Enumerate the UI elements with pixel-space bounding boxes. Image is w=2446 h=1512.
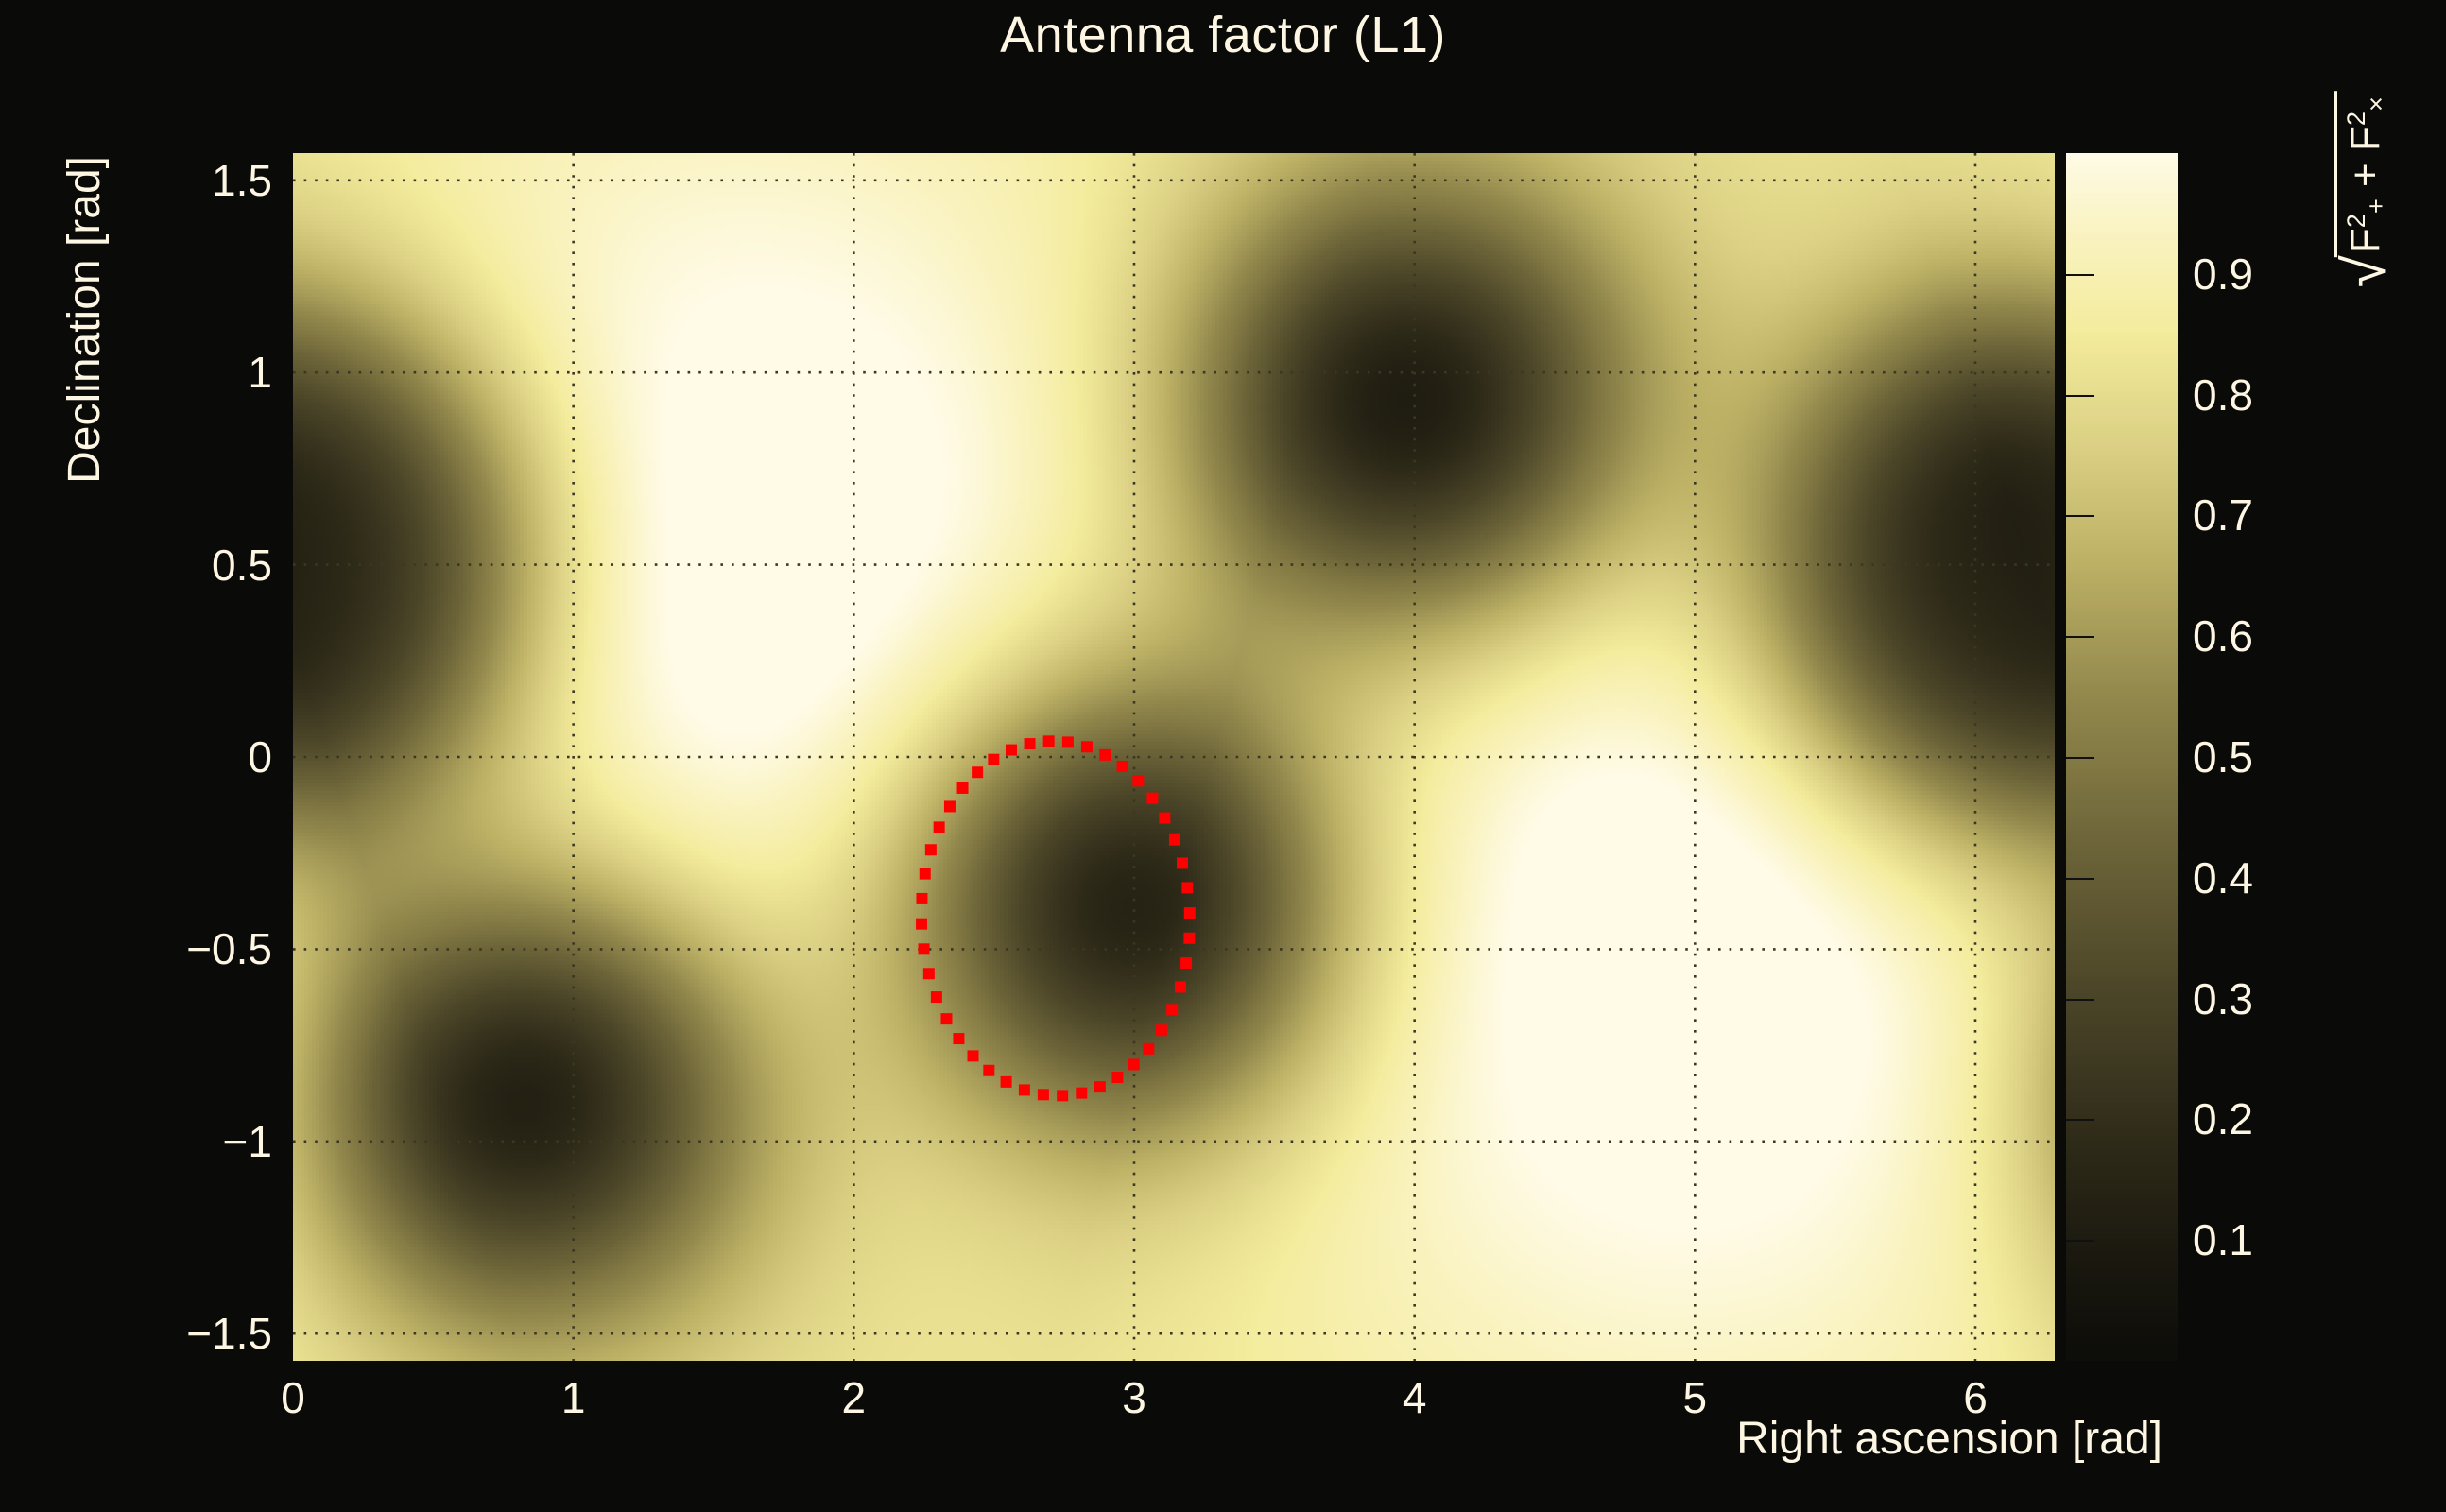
x-tick-label: 6 [1963, 1372, 1988, 1423]
y-tick-label: 0 [248, 731, 272, 782]
x-tick-label: 5 [1683, 1372, 1708, 1423]
colorbar-tick-label: 0.7 [2193, 490, 2253, 541]
y-tick-label: −0.5 [186, 923, 272, 974]
y-tick-label: 0.5 [212, 540, 272, 591]
x-tick-label: 2 [842, 1372, 867, 1423]
y-tick-label: −1 [223, 1116, 272, 1167]
colorbar-tick-label: 0.3 [2193, 973, 2253, 1024]
x-tick-label: 3 [1122, 1372, 1146, 1423]
colorbar-tick-mark [2066, 878, 2094, 880]
colorbar-tick-mark [2066, 1119, 2094, 1121]
antenna-factor-plot: Antenna factor (L1) Right ascension [rad… [0, 0, 2446, 1512]
colorbar-tick-mark [2066, 1240, 2094, 1242]
colorbar-tick-mark [2066, 515, 2094, 517]
y-axis-title: Declination [rad] [59, 156, 111, 484]
colorbar-tick-mark [2066, 395, 2094, 397]
colorbar-tick-label: 0.5 [2193, 731, 2253, 782]
page-title: Antenna factor (L1) [0, 6, 2446, 64]
x-tick-label: 4 [1403, 1372, 1427, 1423]
colorbar-tick-mark [2066, 636, 2094, 638]
y-tick-label: 1.5 [212, 155, 272, 206]
colorbar-tick-label: 0.2 [2193, 1093, 2253, 1144]
colorbar-tick-label: 0.4 [2193, 852, 2253, 903]
colorbar-tick-label: 0.9 [2193, 249, 2253, 300]
colorbar-tick-mark [2066, 999, 2094, 1001]
x-tick-label: 0 [281, 1372, 305, 1423]
f-cross-symbol: F2× [2342, 96, 2388, 151]
plus-operator: + [2342, 163, 2388, 187]
colorbar-tick-label: 0.1 [2193, 1214, 2253, 1265]
x-tick-label: 1 [561, 1372, 586, 1423]
plot-area[interactable] [293, 153, 2055, 1361]
colorbar-tick-label: 0.6 [2193, 610, 2253, 661]
colorbar-tick-label: 0.8 [2193, 369, 2253, 421]
y-tick-label: −1.5 [186, 1308, 272, 1359]
colorbar-tick-mark [2066, 757, 2094, 759]
y-tick-label: 1 [248, 347, 272, 398]
heatmap-canvas [293, 153, 2055, 1361]
colorbar-tick-mark [2066, 274, 2094, 276]
x-axis-title: Right ascension [rad] [1736, 1413, 2162, 1465]
f-plus-symbol: F2+ [2342, 198, 2388, 253]
colorbar-title: √F2+ + F2× [2334, 91, 2391, 287]
radical-icon: √ [2342, 255, 2389, 287]
